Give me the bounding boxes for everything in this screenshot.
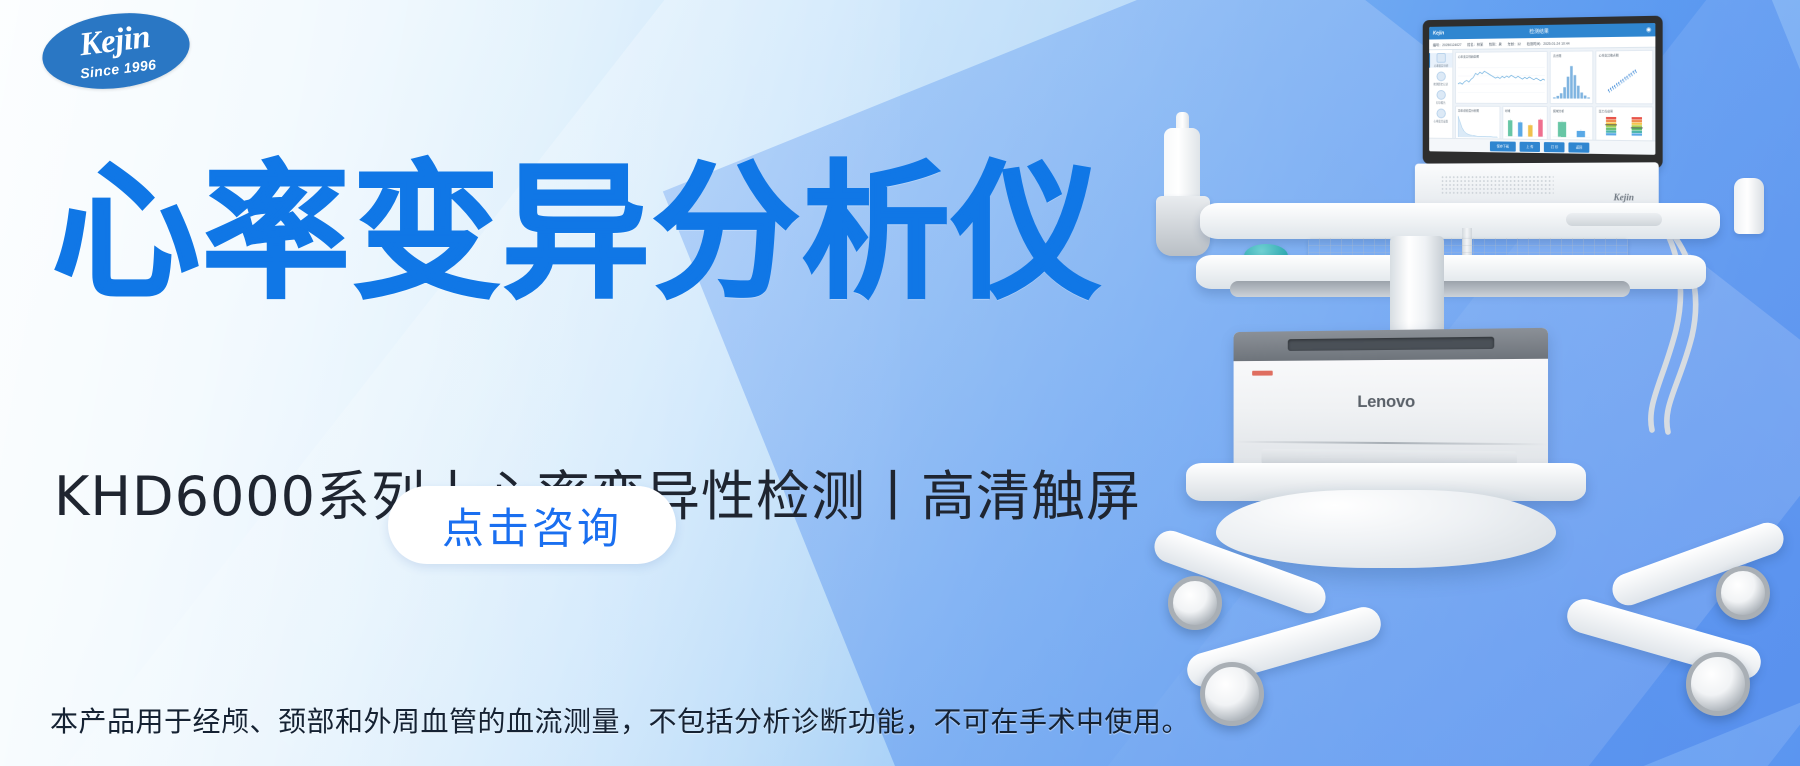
monitor: Kejin 检测结果 ◉ 编号：20250124027 姓名：林某 性别：男 年… <box>1423 16 1663 169</box>
brand-logo-name: Kejin <box>78 21 152 62</box>
chart-frequency-domain <box>1553 114 1591 140</box>
chart-hrv-trend <box>1458 59 1545 101</box>
sidebar-item-settings[interactable]: 心率变异设置 <box>1429 109 1452 124</box>
chart-spectrum <box>1458 113 1497 138</box>
app-sidebar: 心率变异分析 检测历史记录 打印报告 心率变异设置 <box>1429 50 1453 138</box>
probe-holder <box>1734 178 1764 234</box>
card-time-domain: 时域 <box>1502 105 1548 140</box>
card-title: 心率变异散点图 <box>1599 53 1650 58</box>
printer: Lenovo <box>1234 328 1548 472</box>
disclaimer-text: 本产品用于经颅、颈部和外周血管的血流测量，不包括分析诊断功能，不可在手术中使用。 <box>50 700 1190 740</box>
app-title: 检测结果 <box>1429 26 1655 37</box>
caster-wheel <box>1200 662 1264 726</box>
promo-banner: Kejin Since 1996 心率变异分析仪 KHD6000系列丨心率变异性… <box>0 0 1800 766</box>
user-avatar-icon[interactable]: ◉ <box>1646 26 1651 33</box>
print-icon <box>1436 90 1445 100</box>
product-image-medical-cart: Kejin 检测结果 ◉ 编号：20250124027 姓名：林某 性别：男 年… <box>1140 0 1800 766</box>
touchscreen-display[interactable]: Kejin 检测结果 ◉ 编号：20250124027 姓名：林某 性别：男 年… <box>1429 23 1655 155</box>
sidebar-item-label: 检测历史记录 <box>1434 82 1448 86</box>
sidebar-item-label: 心率变异设置 <box>1434 119 1448 123</box>
settings-icon <box>1436 109 1445 119</box>
save-button[interactable]: 保存下载 <box>1490 141 1516 151</box>
card-title: 直方图 <box>1553 53 1591 57</box>
app-body: 心率变异分析 检测历史记录 打印报告 心率变异设置 <box>1429 48 1655 141</box>
caster-wheel <box>1686 652 1750 716</box>
sidebar-item-hrv-analysis[interactable]: 心率变异分析 <box>1429 53 1452 68</box>
caster-wheel <box>1168 576 1222 630</box>
printer-top-panel <box>1234 328 1548 361</box>
chart-icon <box>1437 53 1446 63</box>
back-button[interactable]: 返回 <box>1569 142 1589 152</box>
app-action-bar: 保存下载 上 传 打 印 返回 <box>1429 138 1655 155</box>
sidebar-item-history[interactable]: 检测历史记录 <box>1429 71 1452 86</box>
card-spectrum: 功率谱密度分析图 <box>1455 105 1500 140</box>
card-title: 功率谱密度分析图 <box>1458 108 1497 112</box>
print-button[interactable]: 打 印 <box>1544 142 1565 152</box>
printer-paper-slot <box>1288 337 1494 351</box>
history-icon <box>1436 72 1445 82</box>
consult-button-label: 点击咨询 <box>442 495 622 556</box>
caster-wheel <box>1716 566 1770 620</box>
consult-button[interactable]: 点击咨询 <box>388 486 676 564</box>
meta-age: 年龄：32 <box>1508 41 1521 46</box>
card-title: 时域 <box>1505 108 1545 112</box>
chart-time-domain <box>1505 113 1545 138</box>
card-title: 频域分析 <box>1553 109 1591 113</box>
card-stress-fatigue: 压力与疲劳 <box>1596 106 1654 141</box>
chart-scatter <box>1599 58 1650 101</box>
card-histogram: 直方图 <box>1550 50 1594 103</box>
card-scatter: 心率变异散点图 <box>1596 50 1654 104</box>
printer-brand-label: Lenovo <box>1234 392 1548 413</box>
card-title: 心率变异性趋势图 <box>1458 54 1545 59</box>
vent-grille-icon <box>1441 175 1554 195</box>
meta-id: 编号：20250124027 <box>1433 42 1462 47</box>
card-title: 压力与疲劳 <box>1599 109 1650 113</box>
card-frequency-domain: 频域分析 <box>1550 106 1594 141</box>
sidebar-item-print[interactable]: 打印报告 <box>1429 90 1452 105</box>
page-title: 心率变异分析仪 <box>52 155 1102 312</box>
sidebar-item-label: 心率变异分析 <box>1434 64 1448 68</box>
meta-name: 姓名：林某 <box>1467 41 1483 46</box>
meta-gender: 性别：男 <box>1489 41 1502 46</box>
chart-histogram <box>1553 59 1591 101</box>
pc-enclosure: Kejin <box>1415 162 1659 207</box>
meta-time: 检测时间：2025-01-24 10:44 <box>1527 40 1570 46</box>
pc-brand-label: Kejin <box>1614 192 1634 202</box>
upload-button[interactable]: 上 传 <box>1520 141 1541 151</box>
top-shelf <box>1200 203 1720 239</box>
dashboard-row2-left: 功率谱密度分析图 时域 <box>1455 105 1548 140</box>
shelf-handle <box>1566 213 1662 226</box>
card-hrv-trend: 心率变异性趋势图 <box>1455 51 1548 104</box>
dashboard-grid: 心率变异性趋势图 直方图 <box>1453 48 1655 141</box>
printer-seam <box>1234 441 1548 446</box>
chart-stress-fatigue <box>1599 114 1650 140</box>
sidebar-item-label: 打印报告 <box>1436 101 1446 105</box>
printer-status-led <box>1252 371 1273 376</box>
cart-base-body <box>1216 490 1556 568</box>
